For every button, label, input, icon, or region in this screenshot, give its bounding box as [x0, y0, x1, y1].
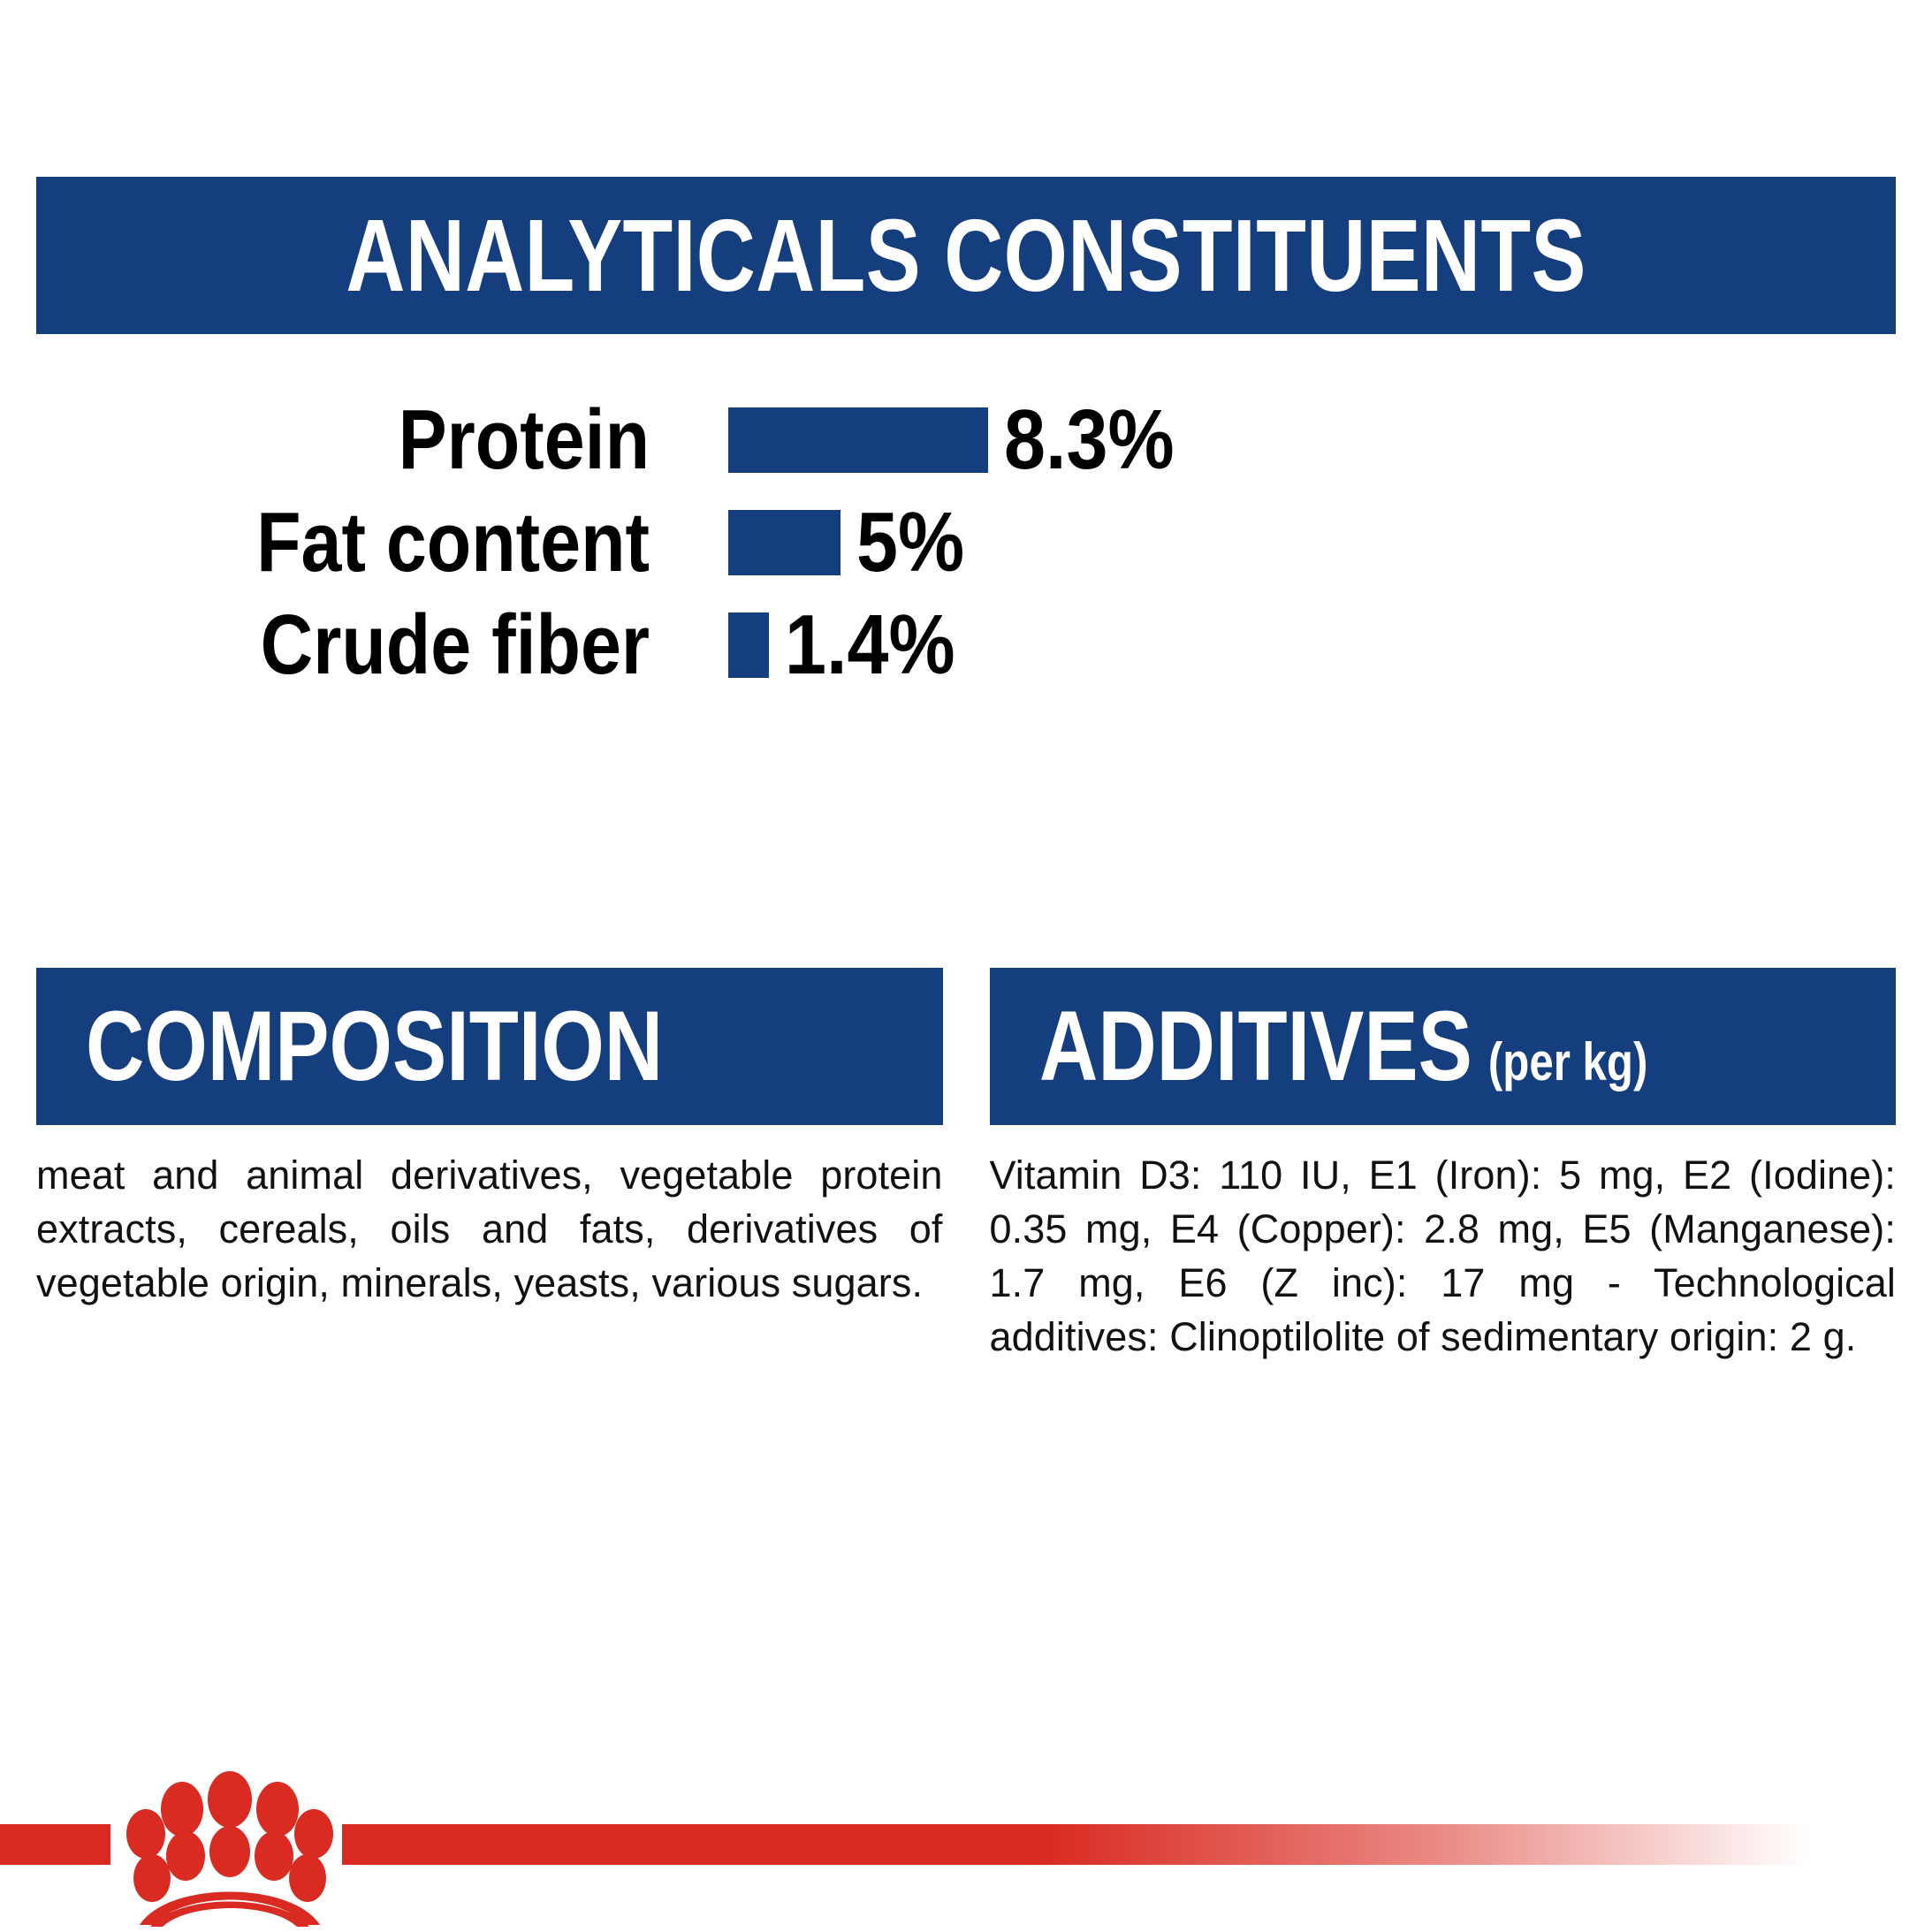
royal-canin-crown-logo — [124, 1761, 336, 1928]
additives-section: ADDITIVES (per kg) Vitamin D3: 110 IU, E… — [990, 968, 1897, 1364]
constituent-value-crude-fiber: 1.4% — [785, 594, 955, 696]
constituents-list: Protein 8.3% Fat content 5% Crude fiber … — [0, 389, 1932, 696]
analyticals-constituents-banner: ANALYTICALS CONSTITUENTS — [36, 177, 1896, 334]
constituent-label-protein: Protein — [91, 389, 650, 491]
additives-per-kg-label: (per kg) — [1487, 1036, 1647, 1089]
constituent-row-crude-fiber: Crude fiber 1.4% — [0, 594, 1932, 696]
constituent-bar-fat-content — [728, 510, 840, 575]
constituent-value-protein: 8.3% — [1004, 389, 1175, 491]
composition-banner-inner: COMPOSITION — [86, 997, 663, 1096]
info-sections: COMPOSITION meat and animal derivatives,… — [36, 968, 1896, 1364]
footer — [0, 1803, 1932, 1932]
constituent-row-fat-content: Fat content 5% — [0, 491, 1932, 594]
additives-title: ADDITIVES — [1039, 997, 1472, 1096]
constituent-bar-protein — [728, 407, 988, 473]
additives-body-text: Vitamin D3: 110 IU, E1 (Iron): 5 mg, E2 … — [990, 1148, 1897, 1364]
footer-rule-right — [342, 1824, 1809, 1865]
constituent-label-fat-content: Fat content — [91, 491, 650, 594]
constituent-bar-crude-fiber — [728, 612, 769, 678]
analyticals-constituents-title: ANALYTICALS CONSTITUENTS — [346, 204, 1586, 307]
composition-section: COMPOSITION meat and animal derivatives,… — [36, 968, 943, 1364]
additives-banner: ADDITIVES (per kg) — [990, 968, 1897, 1125]
footer-rule-left — [0, 1824, 110, 1865]
constituent-row-protein: Protein 8.3% — [0, 389, 1932, 491]
composition-body-text: meat and animal derivatives, vegetable p… — [36, 1148, 943, 1310]
constituent-label-crude-fiber: Crude fiber — [91, 594, 650, 696]
composition-banner: COMPOSITION — [36, 968, 943, 1125]
constituent-value-fat-content: 5% — [856, 491, 964, 594]
composition-title: COMPOSITION — [86, 997, 663, 1096]
additives-banner-inner: ADDITIVES (per kg) — [1039, 997, 1647, 1096]
